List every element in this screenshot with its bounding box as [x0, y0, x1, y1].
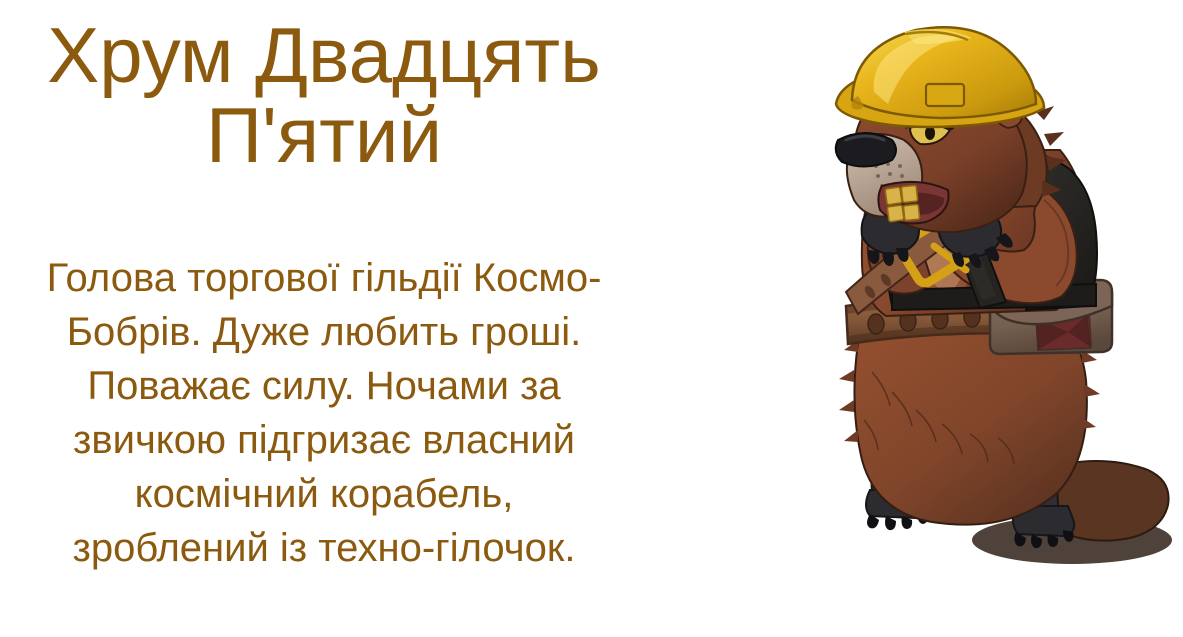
- character-description: Голова торгової гільдії Космо- Бобрів. Д…: [16, 175, 632, 575]
- beaver-character-svg: [800, 0, 1183, 637]
- character-title: Хрум Двадцять П'ятий: [16, 0, 632, 175]
- hat-badge: [926, 84, 964, 106]
- hard-hat: [836, 27, 1044, 127]
- character-text-column: Хрум Двадцять П'ятий Голова торгової гіл…: [0, 0, 648, 637]
- character-illustration: [800, 0, 1183, 637]
- character-card: Хрум Двадцять П'ятий Голова торгової гіл…: [0, 0, 1183, 637]
- nose: [836, 133, 896, 167]
